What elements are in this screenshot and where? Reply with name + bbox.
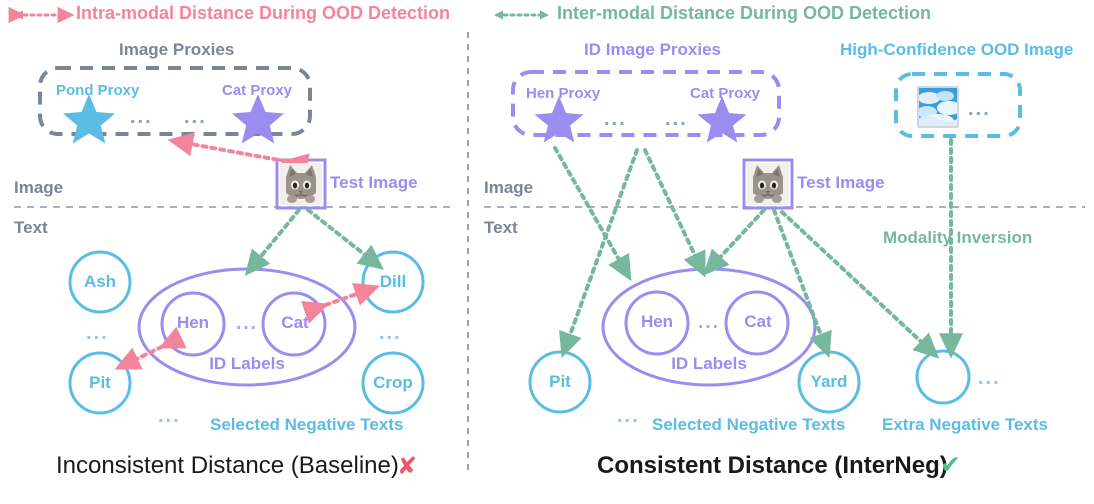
left-id-labels-title: ID Labels	[197, 354, 297, 374]
left-id-label-hen: Hen	[170, 313, 216, 333]
modality-inversion-label: Modality Inversion	[883, 228, 1032, 248]
right-neg-ellipsis-2: ...	[978, 367, 1001, 390]
right-star-cat-icon	[698, 96, 747, 143]
diagram-root: Intra-modal Distance During OOD Detectio…	[0, 0, 1094, 504]
right-neg-label-pit: Pit	[535, 372, 585, 392]
left-test-image-thumbnail	[280, 163, 322, 205]
right-test-image-label: Test Image	[797, 173, 885, 193]
right-arrow-henproxy-to-idlabels	[555, 148, 625, 270]
right-neg-circle-extra	[917, 351, 969, 403]
left-arrow-test-to-idlabels	[253, 210, 299, 266]
left-arrow-test-to-dill	[308, 210, 374, 262]
left-proxy-dashed-box	[40, 68, 310, 134]
sky-thumbnail-icon	[919, 88, 957, 126]
left-neg-ellipsis-1: ...	[86, 322, 109, 345]
cat-thumbnail-icon	[747, 163, 789, 205]
right-panel-caption: Consistent Distance (InterNeg)	[597, 452, 948, 480]
right-ood-ellipsis: ...	[968, 98, 991, 121]
left-id-label-cat: Cat	[272, 313, 318, 333]
right-arrow-henproxy-to-pit	[566, 150, 637, 346]
left-neg-label-crop: Crop	[368, 373, 418, 393]
banner-left-label: Intra-modal Distance During OOD Detectio…	[76, 3, 450, 24]
right-test-image-thumbnail	[747, 163, 789, 205]
check-mark-icon: ✔	[940, 450, 961, 480]
left-neg-label-ash: Ash	[75, 272, 125, 292]
right-id-label-hen: Hen	[634, 312, 680, 332]
right-arrow-test-to-idlabels	[712, 210, 764, 266]
left-proxy-ellipsis-1: ...	[130, 106, 153, 129]
right-id-label-cat: Cat	[735, 312, 781, 332]
left-neg-ellipsis-3: ...	[158, 405, 181, 428]
right-proxy-label-cat: Cat Proxy	[690, 85, 760, 102]
right-proxy-label-hen: Hen Proxy	[526, 85, 600, 102]
left-negatives-caption: Selected Negative Texts	[210, 415, 403, 435]
left-neg-label-pit: Pit	[75, 373, 125, 393]
right-proxy-dashed-box	[513, 72, 779, 135]
left-proxy-label-cat: Cat Proxy	[222, 82, 292, 99]
right-star-hen-icon	[535, 96, 584, 143]
left-arrow-proxy-to-test	[180, 142, 295, 163]
right-ood-box-title: High-Confidence OOD Image	[840, 40, 1073, 60]
right-negatives-caption: Selected Negative Texts	[652, 415, 845, 435]
modality-label-image-right: Image	[484, 178, 533, 198]
left-proxy-ellipsis-2: ...	[184, 106, 207, 129]
right-proxy-ellipsis-1: ...	[604, 108, 627, 131]
right-proxy-ellipsis-2: ...	[665, 108, 688, 131]
left-test-image-label: Test Image	[330, 173, 418, 193]
left-arrow-hen-to-pit	[126, 343, 170, 364]
left-star-cat-icon	[232, 94, 284, 144]
right-neg-label-yard: Yard	[802, 372, 856, 392]
modality-label-image-left: Image	[14, 178, 63, 198]
right-arrow-test-to-yard	[774, 210, 825, 346]
right-arrow-catproxy-to-idlabels	[645, 150, 700, 266]
left-star-pond-icon	[63, 94, 115, 144]
left-neg-ellipsis-2: ...	[379, 322, 402, 345]
right-neg-ellipsis-1: ...	[617, 405, 640, 428]
cat-thumbnail-icon	[280, 163, 322, 205]
right-id-labels-title: ID Labels	[659, 354, 759, 374]
banner-arrow-left-icon	[14, 11, 69, 20]
left-neg-label-dill: Dill	[368, 272, 418, 292]
modality-label-text-right: Text	[484, 218, 518, 238]
banner-arrow-right-icon	[494, 11, 549, 20]
right-proxy-box-title: ID Image Proxies	[584, 40, 721, 60]
left-id-labels-ellipsis: ...	[232, 313, 262, 335]
left-proxy-label-pond: Pond Proxy	[56, 82, 139, 99]
left-proxy-box-title: Image Proxies	[119, 40, 234, 60]
left-panel-caption: Inconsistent Distance (Baseline)	[56, 452, 399, 480]
left-arrow-cat-to-dill	[317, 290, 368, 308]
right-extra-caption: Extra Negative Texts	[882, 415, 1048, 435]
ood-image-thumbnail	[917, 86, 959, 128]
right-id-labels-ellipsis: ...	[694, 312, 724, 334]
cross-mark-icon: ✘	[397, 452, 417, 481]
modality-label-text-left: Text	[14, 218, 48, 238]
banner-right-label: Inter-modal Distance During OOD Detectio…	[557, 3, 931, 24]
